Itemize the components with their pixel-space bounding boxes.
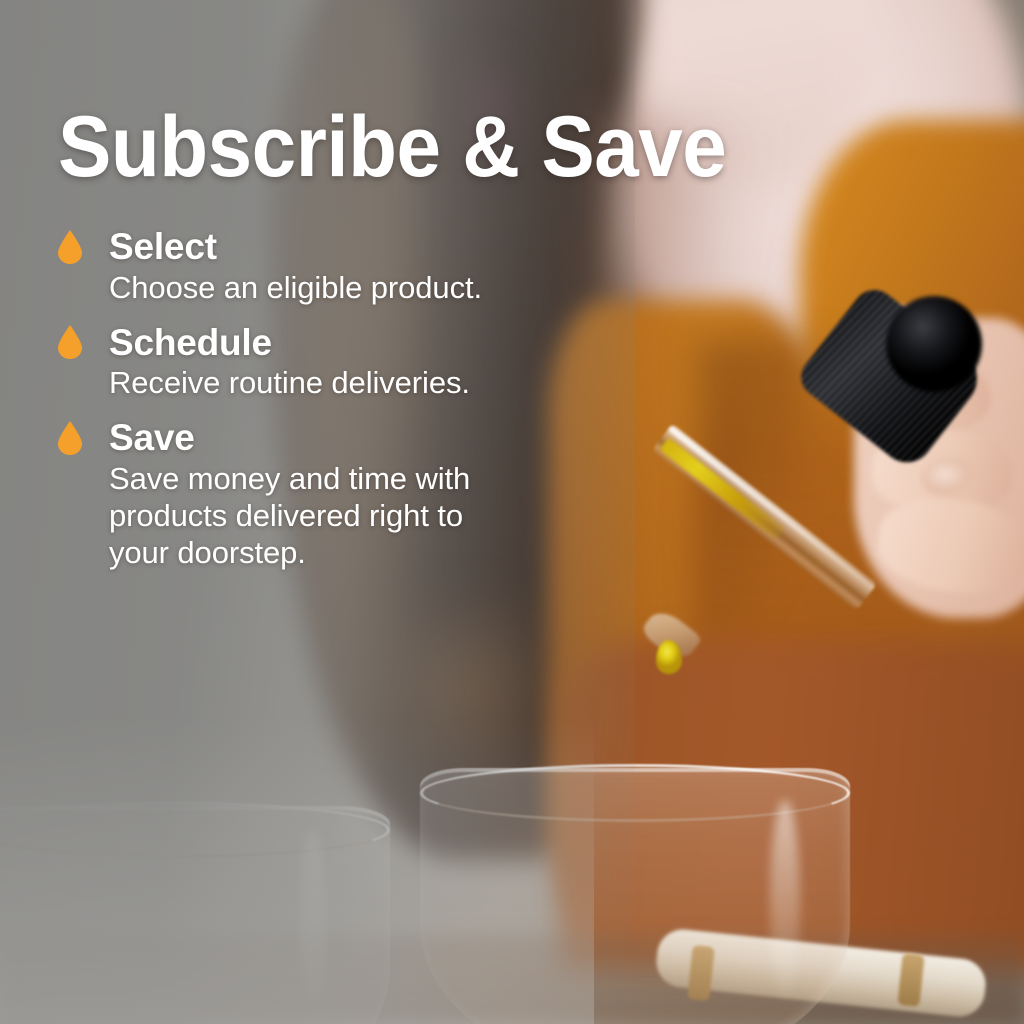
- promo-graphic: Subscribe & Save Select Choose an eligib…: [0, 0, 1024, 1024]
- step-description-line: Save money and time with: [109, 461, 578, 498]
- promo-content: Subscribe & Save Select Choose an eligib…: [0, 0, 1024, 1024]
- step-description: Receive routine deliveries.: [109, 365, 578, 402]
- droplet-icon: [58, 230, 82, 264]
- step-title: Select: [109, 228, 217, 266]
- step-item-schedule: Schedule Receive routine deliveries.: [58, 324, 578, 403]
- step-title: Save: [109, 419, 195, 457]
- step-item-select: Select Choose an eligible product.: [58, 228, 578, 307]
- steps-list: Select Choose an eligible product. Sched…: [58, 228, 578, 589]
- droplet-icon: [58, 325, 82, 359]
- step-title: Schedule: [109, 324, 272, 362]
- step-description-line: Receive routine deliveries.: [109, 365, 578, 402]
- step-description-line: products delivered right to: [109, 498, 578, 535]
- step-description-line: Choose an eligible product.: [109, 270, 578, 307]
- droplet-icon: [58, 421, 82, 455]
- step-description: Save money and time with products delive…: [109, 461, 578, 572]
- step-description: Choose an eligible product.: [109, 270, 578, 307]
- step-item-save: Save Save money and time with products d…: [58, 419, 578, 571]
- step-description-line: your doorstep.: [109, 535, 578, 572]
- page-title: Subscribe & Save: [58, 104, 726, 190]
- step-header: Schedule: [58, 324, 578, 362]
- step-header: Select: [58, 228, 578, 266]
- step-header: Save: [58, 419, 578, 457]
